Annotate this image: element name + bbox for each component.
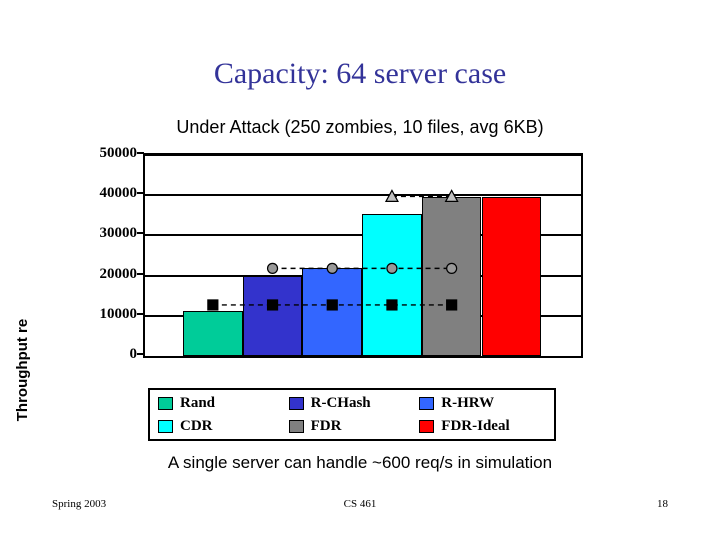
legend-label: R-HRW <box>441 396 494 411</box>
legend-label: FDR <box>311 419 342 434</box>
marker-circle-cdr <box>447 263 457 273</box>
legend-item-r-chash: R-CHash <box>289 392 420 415</box>
legend-item-fdr: FDR <box>289 415 420 438</box>
legend-label: CDR <box>180 419 213 434</box>
legend-item-rand: Rand <box>158 392 289 415</box>
y-axis-tick-label: 50000 <box>51 146 137 161</box>
y-axis-tick-mark <box>137 353 144 355</box>
footer-page-number: 18 <box>465 497 668 511</box>
legend-swatch-icon <box>419 420 434 433</box>
marker-square-rand <box>208 300 218 310</box>
legend-label: Rand <box>180 396 215 411</box>
y-axis-tick-label: 0 <box>51 347 137 362</box>
y-axis-tick-mark <box>137 313 144 315</box>
y-axis-tick-mark <box>137 273 144 275</box>
y-axis-tick-mark <box>137 152 144 154</box>
legend-swatch-icon <box>419 397 434 410</box>
chart-legend: RandR-CHashR-HRWCDRFDRFDR-Ideal <box>148 388 556 441</box>
y-axis-tick-label: 10000 <box>51 307 137 322</box>
y-axis-tick-labels: 50000400003000020000100000 <box>45 140 137 371</box>
y-axis-tick-label: 30000 <box>51 226 137 241</box>
y-axis-tick-mark <box>137 232 144 234</box>
footer-term: Spring 2003 <box>52 497 255 511</box>
chart-title: Under Attack (250 zombies, 10 files, avg… <box>0 116 720 138</box>
marker-square-rand <box>447 300 457 310</box>
legend-swatch-icon <box>289 397 304 410</box>
legend-item-cdr: CDR <box>158 415 289 438</box>
y-axis-tick-label: 20000 <box>51 267 137 282</box>
y-axis-tick-label: 40000 <box>51 186 137 201</box>
y-axis-tick-mark <box>137 192 144 194</box>
footer-course: CS 461 <box>255 497 464 511</box>
slide-caption: A single server can handle ~600 req/s in… <box>0 452 720 474</box>
legend-swatch-icon <box>289 420 304 433</box>
marker-square-rand <box>387 300 397 310</box>
y-axis-title: Throughput re <box>12 290 34 450</box>
plot-area <box>143 153 583 358</box>
marker-circle-cdr <box>327 263 337 273</box>
legend-swatch-icon <box>158 420 173 433</box>
legend-item-fdr-ideal: FDR-Ideal <box>419 415 550 438</box>
legend-item-r-hrw: R-HRW <box>419 392 550 415</box>
marker-circle-cdr <box>268 263 278 273</box>
slide-footer: Spring 2003 CS 461 18 <box>52 496 668 512</box>
page-title: Capacity: 64 server case <box>0 56 720 92</box>
overlay-series <box>145 155 581 356</box>
marker-square-rand <box>268 300 278 310</box>
marker-square-rand <box>327 300 337 310</box>
marker-circle-cdr <box>387 263 397 273</box>
legend-swatch-icon <box>158 397 173 410</box>
legend-label: R-CHash <box>311 396 371 411</box>
legend-label: FDR-Ideal <box>441 419 509 434</box>
